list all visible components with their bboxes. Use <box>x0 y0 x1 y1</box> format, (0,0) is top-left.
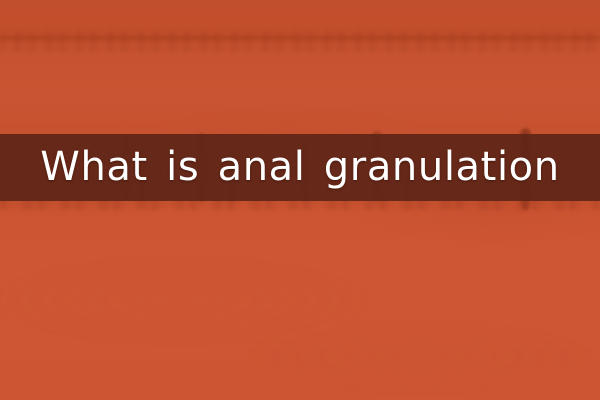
caption-title: What is anal granulation <box>40 147 559 187</box>
horizon-line <box>0 36 600 41</box>
ground-texture <box>0 46 600 400</box>
screenshot-root: What is anal granulation <box>0 0 600 400</box>
caption-overlay-band: What is anal granulation <box>0 134 600 201</box>
